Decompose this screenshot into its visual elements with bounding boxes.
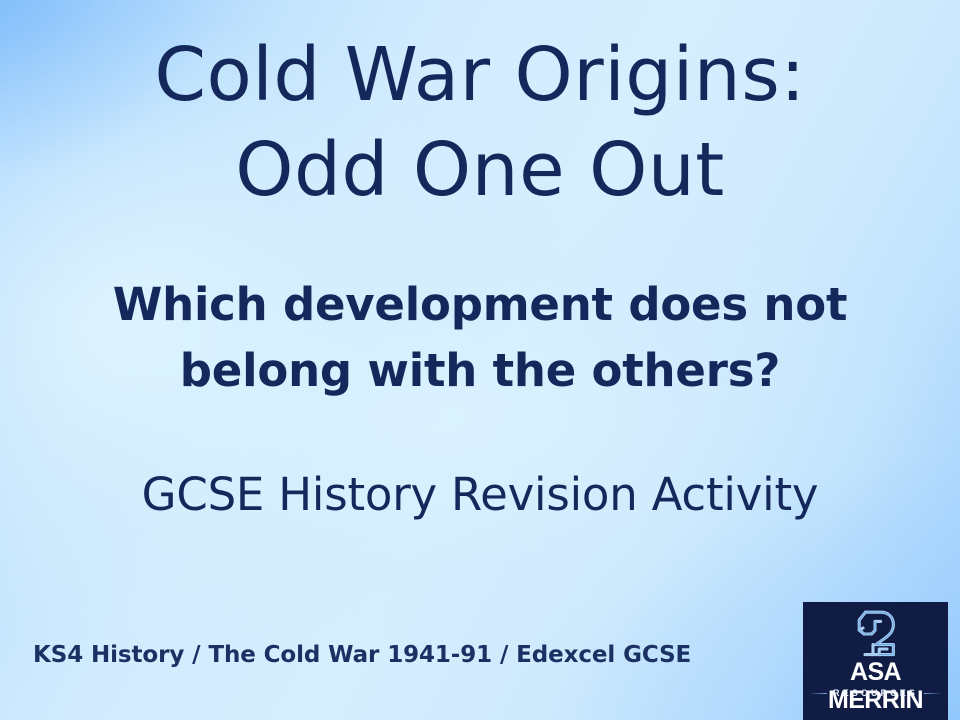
title-line-1: Cold War Origins: [0, 28, 960, 123]
logo-rule-left [811, 693, 827, 694]
slide-title: Cold War Origins: Odd One Out [0, 28, 960, 218]
slide-canvas: Cold War Origins: Odd One Out Which deve… [0, 0, 960, 720]
logo-rule-right [924, 693, 940, 694]
slide-content: Cold War Origins: Odd One Out Which deve… [0, 0, 960, 720]
asa-merrin-logo: ASA MERRIN RESOURCES [803, 602, 948, 720]
slide-question: Which development does not belong with t… [0, 272, 960, 404]
slide-footer-metadata: KS4 History / The Cold War 1941-91 / Ede… [33, 640, 691, 670]
logo-brand-subtitle: RESOURCES [833, 688, 918, 698]
slide-activity-subtitle: GCSE History Revision Activity [0, 467, 960, 523]
logo-subtitle-row: RESOURCES [803, 688, 948, 698]
knight-chess-piece-icon [851, 608, 901, 660]
logo-brand-name: ASA MERRIN [803, 658, 948, 714]
question-line-1: Which development does not [0, 272, 960, 338]
title-line-2: Odd One Out [0, 123, 960, 218]
activity-line-1: GCSE History Revision Activity [0, 467, 960, 523]
question-line-2: belong with the others? [0, 338, 960, 404]
